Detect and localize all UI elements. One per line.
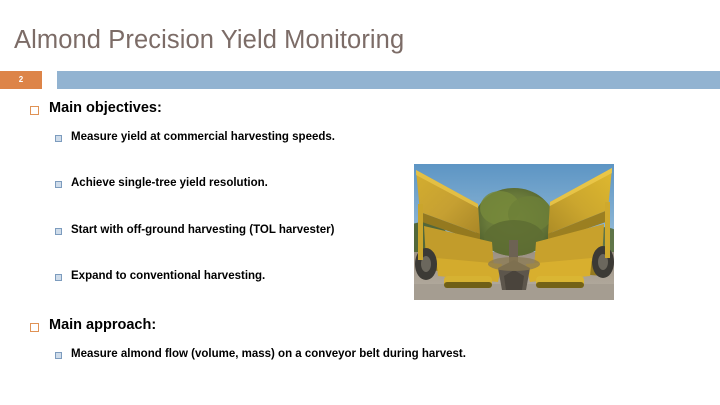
square-filled-bullet-icon — [55, 181, 62, 188]
sub-bullet-measure-yield: Measure yield at commercial harvesting s… — [55, 131, 335, 145]
sub-bullet-label: Measure yield at commercial harvesting s… — [71, 131, 335, 145]
bullet-label: Main objectives: — [49, 100, 162, 117]
harvester-photo — [414, 164, 614, 300]
square-outline-bullet-icon — [30, 106, 39, 115]
slide: Almond Precision Yield Monitoring 2 Main… — [0, 0, 720, 405]
bullet-main-approach: Main approach: — [30, 317, 156, 334]
bullet-main-objectives: Main objectives: — [30, 100, 162, 117]
page-title: Almond Precision Yield Monitoring — [14, 26, 674, 54]
title-divider: 2 — [0, 71, 720, 89]
sub-bullet-label: Expand to conventional harvesting. — [71, 270, 265, 284]
square-filled-bullet-icon — [55, 228, 62, 235]
sub-bullet-label: Achieve single-tree yield resolution. — [71, 177, 268, 191]
sub-bullet-label: Start with off-ground harvesting (TOL ha… — [71, 224, 334, 238]
sub-bullet-off-ground-harvesting: Start with off-ground harvesting (TOL ha… — [55, 224, 334, 238]
bullet-label: Main approach: — [49, 317, 156, 334]
sub-bullet-conventional-harvesting: Expand to conventional harvesting. — [55, 270, 265, 284]
square-filled-bullet-icon — [55, 352, 62, 359]
sub-bullet-single-tree-resolution: Achieve single-tree yield resolution. — [55, 177, 268, 191]
sub-bullet-label: Measure almond flow (volume, mass) on a … — [71, 348, 466, 362]
divider-bar — [57, 71, 720, 89]
square-filled-bullet-icon — [55, 135, 62, 142]
square-filled-bullet-icon — [55, 274, 62, 281]
square-outline-bullet-icon — [30, 323, 39, 332]
slide-number-badge: 2 — [0, 71, 42, 89]
sub-bullet-measure-almond-flow: Measure almond flow (volume, mass) on a … — [55, 348, 466, 362]
